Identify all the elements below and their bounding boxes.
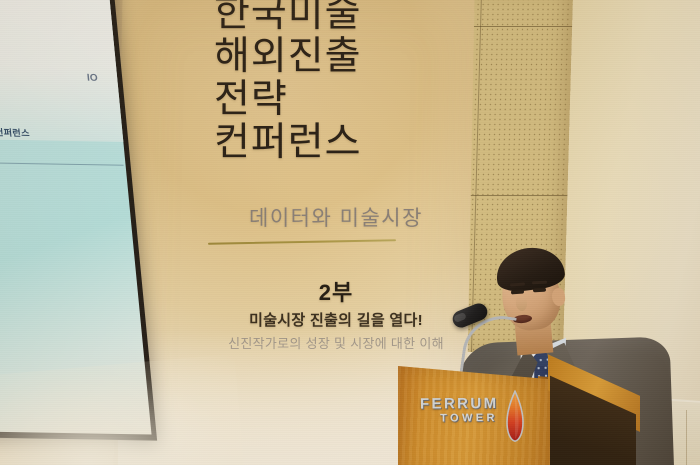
conference-photo: 한국미술 해외진출 전략 컨퍼런스 데이터와 미술시장 2부 미술시장 진출의 … — [0, 0, 700, 465]
banner-title: 한국미술 해외진출 전략 컨퍼런스 — [214, 0, 464, 164]
speaker-eye-right — [533, 288, 546, 293]
slide-logo-icon: IO — [87, 73, 104, 84]
brand-name-secondary: TOWER — [440, 412, 499, 426]
title-line-2: 해외진출 — [214, 35, 464, 78]
banner-divider-rule — [208, 239, 396, 245]
lectern-podium: FERRUM TOWER — [398, 366, 628, 465]
panel-seam-top — [460, 26, 572, 27]
title-line-4: 컨퍼런스 — [214, 121, 464, 164]
banner-subtitle: 데이터와 미술시장 — [206, 202, 466, 232]
title-line-3: 전략 — [214, 78, 464, 121]
brand-name-primary: FERRUM — [420, 396, 499, 413]
podium-brand-lockup: FERRUM TOWER — [420, 396, 499, 426]
slide-upper-area — [0, 0, 123, 142]
slide-divider — [0, 162, 124, 166]
floor-light-wash — [0, 354, 245, 465]
title-line-1: 한국미술 — [214, 0, 464, 35]
panel-seam-bottom — [455, 195, 567, 196]
session-part-number: 2부 — [206, 275, 466, 307]
ferrum-flame-logo-icon — [506, 390, 524, 442]
